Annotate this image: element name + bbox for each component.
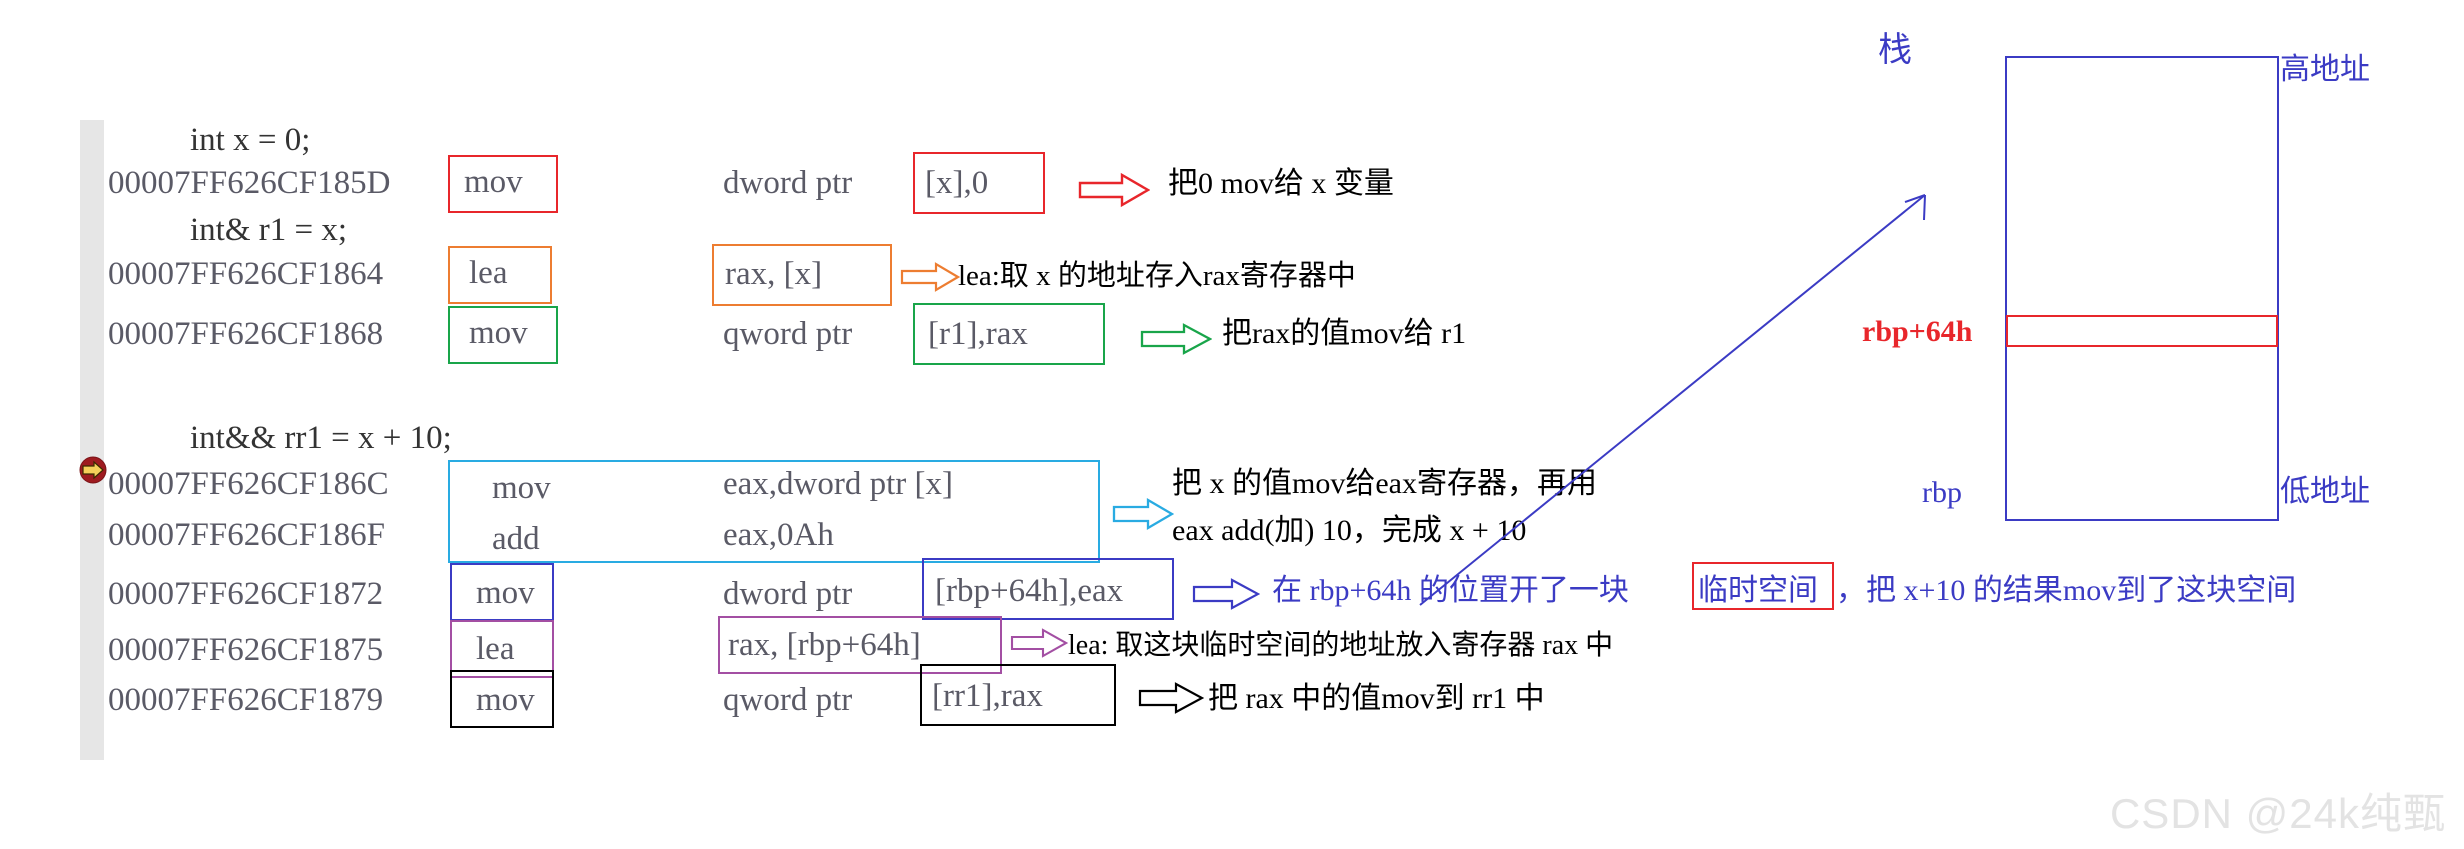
stack-slot-label: rbp+64h <box>1862 315 1972 349</box>
disasm-address-8: 00007FF626CF1879 <box>108 682 383 719</box>
source-line-2: int& r1 = x; <box>190 212 347 249</box>
disasm-operand-prefix-3: qword ptr <box>723 316 860 353</box>
disasm-mnemonic-6: mov <box>462 571 549 616</box>
disasm-mnemonic-7: lea <box>462 627 528 672</box>
stack-temp-slot-rect <box>2006 315 2278 347</box>
source-line-3: int&& rr1 = x + 10; <box>190 420 452 457</box>
stack-base-pointer-label: rbp <box>1922 476 1962 510</box>
disasm-operand-7: rax, [rbp+64h] <box>728 627 921 664</box>
disasm-operand-prefix-6: dword ptr <box>723 576 860 613</box>
block-arrow-blue-icon <box>1192 578 1260 615</box>
annotation-black: 把 rax 中的值mov到 rr1 中 <box>1208 678 1545 720</box>
stack-low-address-label: 低地址 <box>2280 466 2370 510</box>
disasm-mnemonic-5: add <box>478 517 554 562</box>
stack-high-address-label: 高地址 <box>2280 44 2370 88</box>
csdn-watermark: CSDN @24k纯甄 <box>2110 780 2446 841</box>
disasm-address-7: 00007FF626CF1875 <box>108 632 383 669</box>
disasm-operand-4: eax,dword ptr [x] <box>723 466 953 503</box>
disasm-address-3: 00007FF626CF1868 <box>108 316 383 353</box>
annotation-blue-part-2: ，把 x+10 的结果mov到了这块空间 <box>1836 570 2296 612</box>
disasm-operand-1: [x],0 <box>925 165 988 202</box>
disasm-mnemonic-8: mov <box>462 678 549 723</box>
disasm-address-1: 00007FF626CF185D <box>108 165 390 202</box>
disasm-operand-2: rax, [x] <box>725 256 822 293</box>
disasm-operand-6: [rbp+64h],eax <box>935 573 1123 610</box>
disasm-address-4: 00007FF626CF186C <box>108 466 389 503</box>
block-arrow-purple-icon <box>1010 628 1068 663</box>
stack-title: 栈 <box>1878 22 1912 71</box>
disasm-operand-8: [rr1],rax <box>932 678 1043 715</box>
disasm-operand-prefix-8: qword ptr <box>723 682 860 719</box>
stack-diagram: 栈 高地址 低地址 rbp+64h rbp <box>1850 0 2464 560</box>
block-arrow-black-icon <box>1138 682 1204 719</box>
stack-frame-rect <box>2005 56 2279 521</box>
block-arrow-green-icon <box>1140 322 1212 361</box>
disasm-address-5: 00007FF626CF186F <box>108 517 385 554</box>
disasm-operand-3: [r1],rax <box>928 316 1028 353</box>
disasm-operand-prefix-1: dword ptr <box>723 165 860 202</box>
annotation-orange: lea:取 x 的地址存入rax寄存器中 <box>958 255 1356 297</box>
disasm-mnemonic-4: mov <box>478 466 565 511</box>
block-arrow-cyan-icon <box>1112 497 1174 536</box>
source-line-1: int x = 0; <box>190 122 310 159</box>
disasm-mnemonic-2: lea <box>455 251 521 296</box>
block-arrow-orange-icon <box>900 261 960 298</box>
disasm-address-2: 00007FF626CF1864 <box>108 256 383 293</box>
block-arrow-red-icon <box>1078 172 1150 213</box>
disasm-mnemonic-1: mov <box>450 160 537 205</box>
disasm-operand-5: eax,0Ah <box>723 517 834 554</box>
annotation-red: 把0 mov给 x 变量 <box>1168 163 1394 205</box>
disasm-address-6: 00007FF626CF1872 <box>108 576 383 613</box>
disasm-mnemonic-3: mov <box>455 311 542 356</box>
pointer-arrow-to-stack-slot <box>1400 170 1900 650</box>
